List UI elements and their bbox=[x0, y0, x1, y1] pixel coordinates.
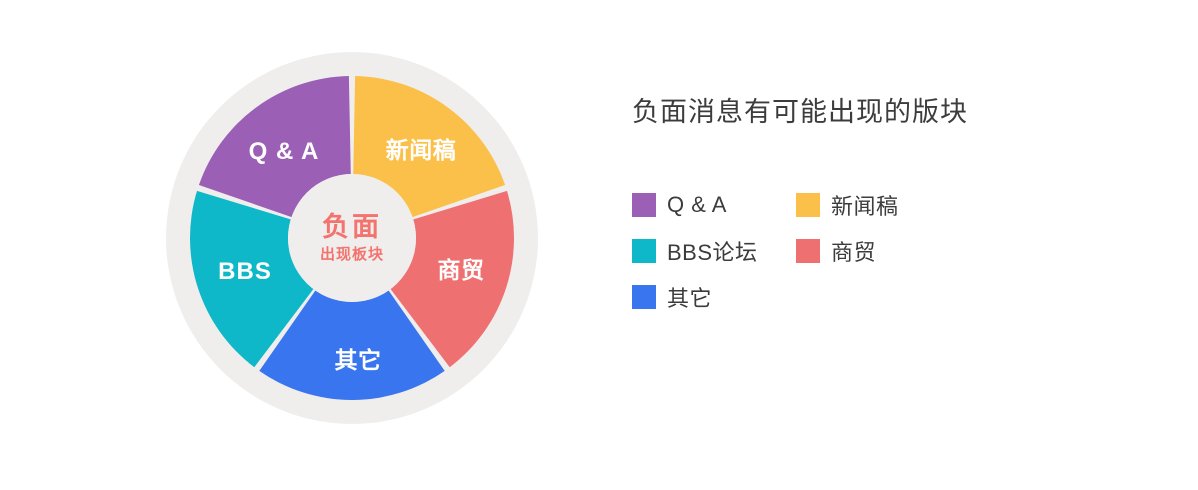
legend-item[interactable]: Q & A bbox=[632, 192, 796, 218]
legend-item-label: 商贸 bbox=[831, 235, 876, 267]
center-title: 负面 bbox=[322, 213, 382, 243]
legend-swatch-icon bbox=[632, 239, 656, 263]
donut-center-hub: 负面 出现板块 bbox=[288, 174, 416, 302]
legend-swatch-icon bbox=[632, 193, 656, 217]
legend-item[interactable]: BBS论坛 bbox=[632, 235, 796, 267]
legend-item-label: BBS论坛 bbox=[667, 235, 758, 267]
page-title: 负面消息有可能出现的版块 bbox=[632, 96, 1152, 128]
legend-item[interactable]: 新闻稿 bbox=[796, 189, 986, 221]
center-subtitle: 出现板块 bbox=[320, 247, 384, 264]
legend: Q & A新闻稿BBS论坛商贸其它 bbox=[632, 182, 1152, 320]
legend-item-label: 其它 bbox=[667, 281, 712, 313]
donut-chart: 新闻稿商贸其它BBSQ & A 负面 出现板块 bbox=[0, 0, 600, 490]
legend-item-label: 新闻稿 bbox=[831, 189, 899, 221]
legend-swatch-icon bbox=[796, 193, 820, 217]
legend-item[interactable]: 商贸 bbox=[796, 235, 986, 267]
legend-item[interactable]: 其它 bbox=[632, 281, 796, 313]
legend-swatch-icon bbox=[796, 239, 820, 263]
legend-swatch-icon bbox=[632, 285, 656, 309]
legend-item-label: Q & A bbox=[667, 192, 727, 218]
info-panel: 负面消息有可能出现的版块 Q & A新闻稿BBS论坛商贸其它 bbox=[632, 96, 1152, 320]
